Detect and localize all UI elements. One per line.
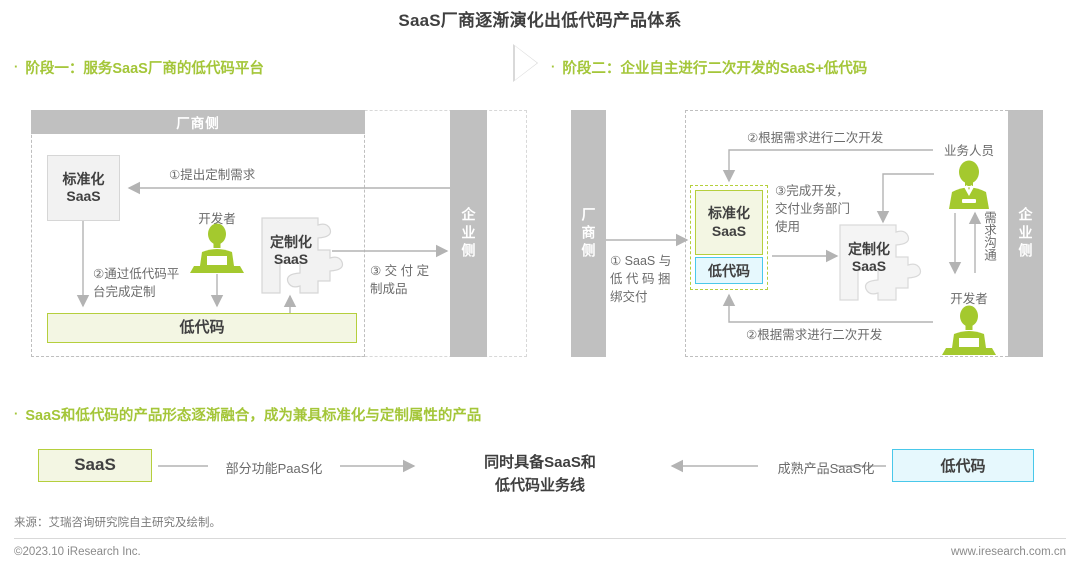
source-note: 来源：艾瑞咨询研究院自主研究及绘制。: [14, 514, 221, 530]
bottom-arrows: [0, 0, 1080, 567]
footer-website: www.iresearch.com.cn: [951, 546, 1066, 558]
footer-divider: [14, 538, 1066, 539]
infographic-canvas: SaaS厂商逐渐演化出低代码产品体系 ·阶段一：服务SaaS厂商的低代码平台 ·…: [0, 0, 1080, 567]
bottom-right-arrow-label: 成熟产品SaaS化: [758, 458, 894, 477]
bottom-left-arrow-label: 部分功能PaaS化: [206, 458, 342, 477]
footer-copyright: ©2023.10 iResearch Inc.: [14, 546, 141, 558]
